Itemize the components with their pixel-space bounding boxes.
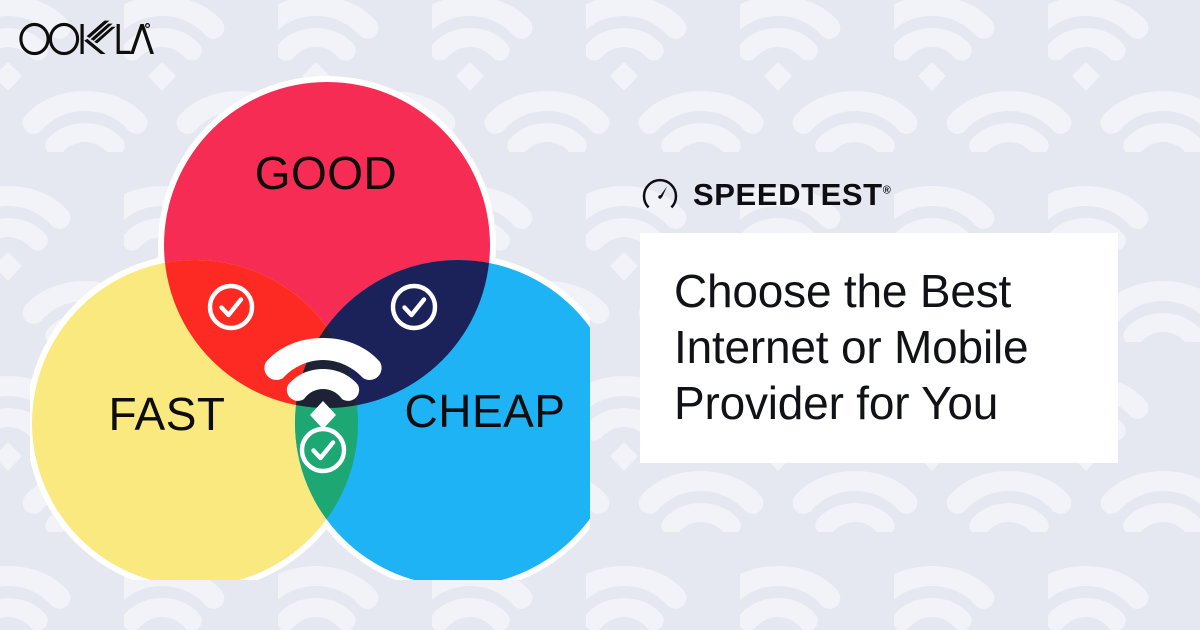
speedtest-wordmark: SPEEDTEST® — [693, 179, 891, 210]
venn-diagram: GOOD FAST CHEAP — [30, 50, 590, 580]
headline-line-3: Provider for You — [674, 375, 1084, 431]
speedtest-logo: SPEEDTEST® — [640, 170, 1140, 218]
venn-label-fast: FAST — [108, 388, 225, 440]
page-title: Choose the Best Internet or Mobile Provi… — [674, 263, 1084, 431]
headline-line-2: Internet or Mobile — [674, 319, 1084, 375]
poster-canvas: GOOD FAST CHEAP SPEEDTEST® Choose the Be… — [0, 0, 1200, 630]
headline-line-1: Choose the Best — [674, 263, 1084, 319]
venn-label-cheap: CHEAP — [405, 385, 566, 437]
speedometer-icon — [640, 174, 680, 214]
headline-box: Choose the Best Internet or Mobile Provi… — [640, 233, 1118, 463]
speedtest-registered-mark: ® — [883, 184, 891, 196]
speedtest-wordmark-text: SPEEDTEST — [693, 177, 883, 212]
venn-label-good: GOOD — [255, 147, 398, 199]
right-panel: SPEEDTEST® Choose the Best Internet or M… — [640, 170, 1140, 463]
